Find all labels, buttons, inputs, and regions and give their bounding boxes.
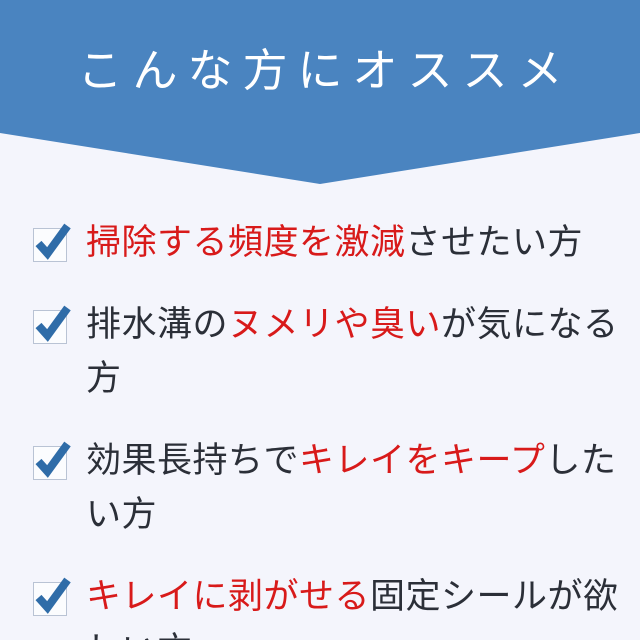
highlight-text-run: キレイに剥がせる: [86, 577, 370, 616]
plain-text-run: させたい方: [406, 223, 584, 262]
highlight-text-run: キレイをキープ: [299, 441, 545, 480]
check-mark-icon: [30, 304, 72, 346]
list-item-text: 効果長持ちでキレイをキープしたい方: [86, 434, 626, 542]
highlight-text-run: 掃除する頻度を激減: [86, 223, 406, 262]
plain-text-run: 排水溝の: [86, 305, 228, 344]
plain-text-run: 効果長持ちで: [86, 441, 299, 480]
list-item: 排水溝のヌメリや臭いが気になる方: [0, 298, 640, 406]
recommendation-checklist: 掃除する頻度を激減させたい方 排水溝のヌメリや臭いが気になる方 効果長持ちでキレ…: [0, 216, 640, 640]
page-title: こんな方にオススメ: [0, 40, 640, 102]
highlight-text-run: ヌメリや臭い: [228, 305, 441, 344]
check-mark-icon: [30, 440, 72, 482]
list-item-text: 排水溝のヌメリや臭いが気になる方: [86, 298, 626, 406]
poster-canvas: こんな方にオススメ 掃除する頻度を激減させたい方 排水溝のヌメリや臭いが気になる…: [0, 0, 640, 640]
check-mark-icon: [30, 222, 72, 264]
list-item-text: キレイに剥がせる固定シールが欲しい方: [86, 570, 626, 640]
list-item: 効果長持ちでキレイをキープしたい方: [0, 434, 640, 542]
check-mark-icon: [30, 576, 72, 618]
list-item: 掃除する頻度を激減させたい方: [0, 216, 640, 270]
list-item: キレイに剥がせる固定シールが欲しい方: [0, 570, 640, 640]
list-item-text: 掃除する頻度を激減させたい方: [86, 216, 626, 270]
